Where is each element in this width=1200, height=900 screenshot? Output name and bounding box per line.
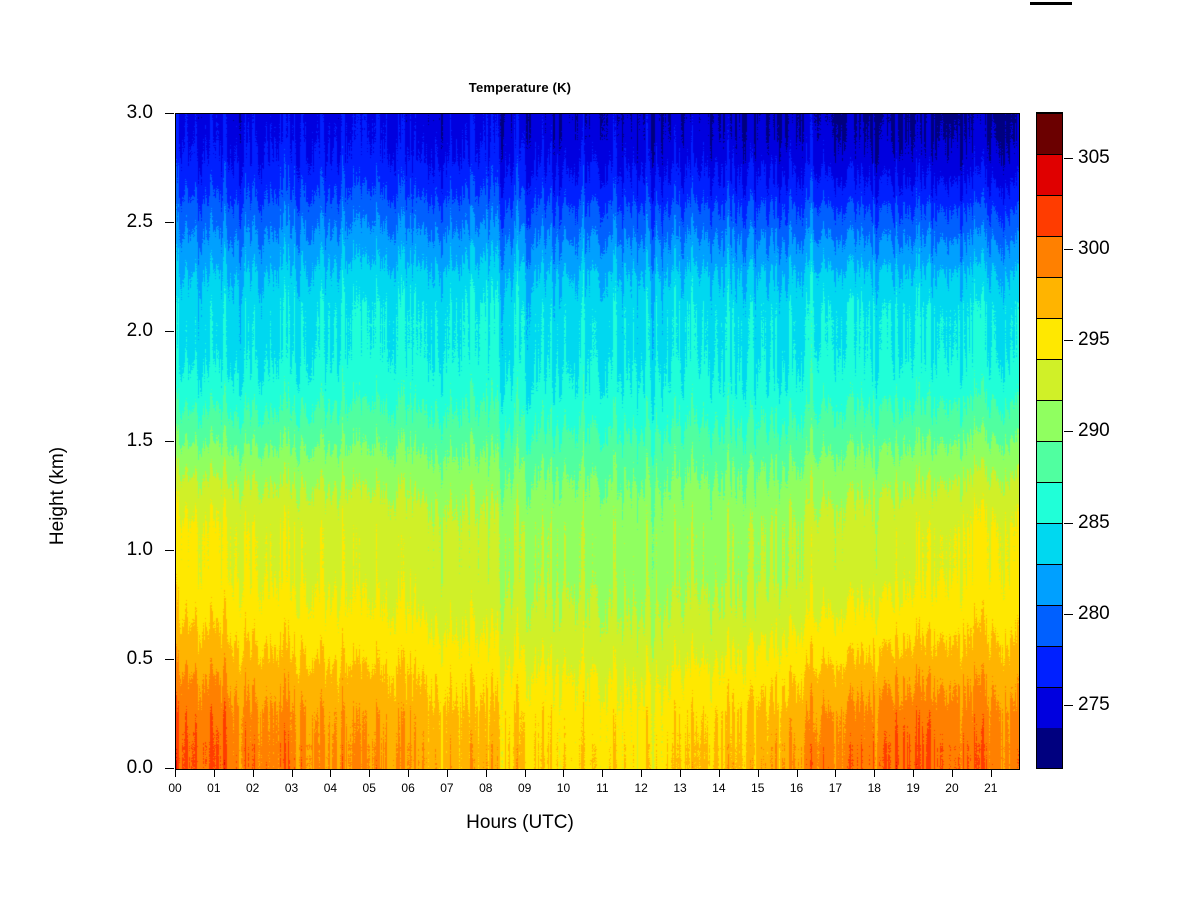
colorbar-tick-label: 305: [1078, 148, 1110, 167]
y-axis-title: Height (km): [47, 396, 69, 596]
x-tick-label: 08: [466, 782, 506, 794]
colorbar-tick-mark: [1064, 158, 1073, 159]
x-tick-label: 01: [194, 782, 234, 794]
x-tick-label: 00: [155, 782, 195, 794]
y-tick-label: 1.5: [101, 431, 153, 450]
x-tick-label: 16: [777, 782, 817, 794]
x-tick-label: 18: [854, 782, 894, 794]
x-tick-label: 02: [233, 782, 273, 794]
colorbar-block: [1037, 154, 1062, 195]
x-tick-label: 03: [272, 782, 312, 794]
x-tick-label: 19: [893, 782, 933, 794]
y-tick-label: 1.0: [101, 540, 153, 559]
top-rule-artifact: [1030, 2, 1072, 5]
colorbar-block: [1037, 359, 1062, 400]
x-tick-mark: [952, 769, 953, 777]
colorbar-block: [1037, 523, 1062, 564]
colorbar-block: [1037, 687, 1062, 728]
colorbar-tick-mark: [1064, 705, 1073, 706]
x-tick-label: 12: [621, 782, 661, 794]
y-tick-label: 3.0: [101, 103, 153, 122]
colorbar-tick-mark: [1064, 614, 1073, 615]
x-tick-mark: [874, 769, 875, 777]
x-tick-mark: [447, 769, 448, 777]
x-tick-mark: [563, 769, 564, 777]
x-tick-mark: [680, 769, 681, 777]
colorbar-block: [1037, 400, 1062, 441]
colorbar-tick-label: 290: [1078, 421, 1110, 440]
x-tick-label: 05: [349, 782, 389, 794]
colorbar-block: [1037, 236, 1062, 277]
colorbar-tick-mark: [1064, 340, 1073, 341]
colorbar-tick-mark: [1064, 249, 1073, 250]
x-tick-mark: [408, 769, 409, 777]
x-tick-mark: [641, 769, 642, 777]
x-tick-label: 20: [932, 782, 972, 794]
x-tick-mark: [719, 769, 720, 777]
x-tick-mark: [292, 769, 293, 777]
colorbar-block: [1037, 646, 1062, 687]
x-tick-mark: [758, 769, 759, 777]
colorbar-tick-label: 295: [1078, 330, 1110, 349]
y-tick-label: 0.0: [101, 758, 153, 777]
colorbar-block: [1037, 277, 1062, 318]
colorbar-block: [1037, 482, 1062, 523]
x-axis-title: Hours (UTC): [0, 812, 1040, 834]
colorbar-tick-label: 285: [1078, 513, 1110, 532]
x-tick-mark: [214, 769, 215, 777]
colorbar: [1036, 112, 1063, 769]
y-tick-mark: [165, 659, 174, 660]
colorbar-tick-label: 300: [1078, 239, 1110, 258]
x-tick-mark: [175, 769, 176, 777]
x-tick-label: 17: [815, 782, 855, 794]
colorbar-block: [1037, 605, 1062, 646]
y-tick-mark: [165, 441, 174, 442]
colorbar-tick-mark: [1064, 431, 1073, 432]
x-tick-mark: [797, 769, 798, 777]
y-tick-mark: [165, 113, 174, 114]
colorbar-tick-label: 280: [1078, 604, 1110, 623]
heatmap-plot-area: [175, 113, 1020, 770]
y-tick-mark: [165, 331, 174, 332]
x-tick-mark: [991, 769, 992, 777]
x-tick-label: 15: [738, 782, 778, 794]
temperature-time-height-figure: Temperature (K) 0.00.51.01.52.02.53.0 00…: [0, 0, 1200, 900]
x-tick-label: 09: [505, 782, 545, 794]
x-tick-mark: [835, 769, 836, 777]
x-tick-label: 10: [543, 782, 583, 794]
x-tick-mark: [369, 769, 370, 777]
x-tick-label: 04: [310, 782, 350, 794]
y-tick-label: 2.0: [101, 321, 153, 340]
x-tick-label: 14: [699, 782, 739, 794]
page-title: Temperature (K): [0, 80, 1040, 95]
colorbar-tick-mark: [1064, 523, 1073, 524]
y-tick-mark: [165, 768, 174, 769]
colorbar-block: [1037, 728, 1062, 768]
x-tick-label: 06: [388, 782, 428, 794]
x-tick-mark: [486, 769, 487, 777]
colorbar-tick-label: 275: [1078, 695, 1110, 714]
colorbar-block: [1037, 441, 1062, 482]
heatmap-canvas: [176, 114, 1019, 769]
colorbar-block: [1037, 564, 1062, 605]
colorbar-block: [1037, 113, 1062, 154]
colorbar-block: [1037, 318, 1062, 359]
x-tick-label: 11: [582, 782, 622, 794]
x-tick-label: 13: [660, 782, 700, 794]
y-tick-mark: [165, 222, 174, 223]
x-tick-label: 07: [427, 782, 467, 794]
x-tick-mark: [330, 769, 331, 777]
colorbar-block: [1037, 195, 1062, 236]
y-tick-label: 2.5: [101, 212, 153, 231]
x-tick-label: 21: [971, 782, 1011, 794]
x-tick-mark: [525, 769, 526, 777]
x-tick-mark: [913, 769, 914, 777]
x-tick-mark: [253, 769, 254, 777]
x-tick-mark: [602, 769, 603, 777]
y-tick-label: 0.5: [101, 649, 153, 668]
y-tick-mark: [165, 550, 174, 551]
